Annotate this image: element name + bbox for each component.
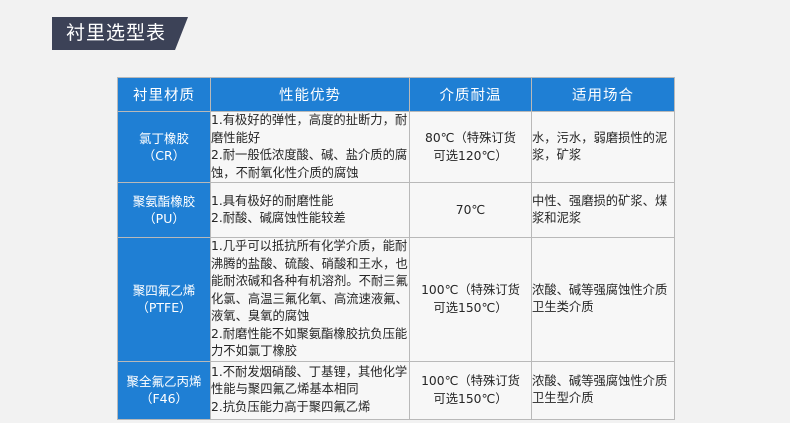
performance-item: 2.耐一般低浓度酸、碱、盐介质的腐蚀，不耐氧化性介质的腐蚀 (211, 147, 409, 182)
performance-item: 2.抗负压能力高于聚四氟乙烯 (211, 399, 409, 417)
cell-material: 聚全氟乙丙烯 （F46） (118, 361, 211, 419)
cell-temperature: 100℃（特殊订货 可选150℃） (410, 361, 532, 419)
material-abbr: （PU） (118, 210, 210, 227)
temperature-line: 100℃（特殊订货 (410, 372, 531, 390)
cell-performance: 1.具有极好的耐磨性能 2.耐酸、碱腐蚀性能较差 (211, 183, 410, 238)
material-name: 聚四氟乙烯 (118, 282, 210, 299)
column-header-usage: 适用场合 (532, 78, 675, 112)
temperature-line: 可选150℃） (410, 390, 531, 408)
page-title-container: 衬里选型表 (52, 17, 188, 50)
performance-item: 1.不耐发烟硝酸、丁基锂，其他化学性能与聚四氟乙烯基本相同 (211, 364, 409, 399)
performance-item: 1.具有极好的耐磨性能 (211, 193, 409, 211)
cell-material: 氯丁橡胶 （CR） (118, 112, 211, 183)
usage-item: 水，污水，弱磨损性的泥浆，矿浆 (532, 130, 674, 165)
performance-item: 2.耐磨性能不如聚氨酯橡胶抗负压能力不如氯丁橡胶 (211, 326, 409, 361)
table-header-row: 衬里材质 性能优势 介质耐温 适用场合 (118, 78, 675, 112)
cell-usage: 浓酸、碱等强腐蚀性介质卫生型介质 (532, 361, 675, 419)
table-row: 聚全氟乙丙烯 （F46） 1.不耐发烟硝酸、丁基锂，其他化学性能与聚四氟乙烯基本… (118, 361, 675, 419)
column-header-temperature: 介质耐温 (410, 78, 532, 112)
temperature-line: 可选150℃） (410, 299, 531, 317)
temperature-line: 可选120℃） (410, 147, 531, 165)
temperature-line: 100℃（特殊订货 (410, 281, 531, 299)
lining-selection-table: 衬里材质 性能优势 介质耐温 适用场合 氯丁橡胶 （CR） 1.有极好的弹性，高… (117, 77, 675, 420)
cell-temperature: 80℃（特殊订货 可选120℃） (410, 112, 532, 183)
usage-item: 中性、强磨损的矿浆、煤浆和泥浆 (532, 193, 674, 228)
column-header-performance: 性能优势 (211, 78, 410, 112)
table-row: 氯丁橡胶 （CR） 1.有极好的弹性，高度的扯断力，耐磨性能好 2.耐一般低浓度… (118, 112, 675, 183)
cell-material: 聚氨酯橡胶 （PU） (118, 183, 211, 238)
performance-item: 2.耐酸、碱腐蚀性能较差 (211, 210, 409, 228)
cell-temperature: 100℃（特殊订货 可选150℃） (410, 238, 532, 362)
material-name: 聚氨酯橡胶 (118, 193, 210, 210)
cell-temperature: 70℃ (410, 183, 532, 238)
usage-item: 浓酸、碱等强腐蚀性介质卫生型介质 (532, 373, 674, 408)
material-abbr: （F46） (118, 390, 210, 407)
material-abbr: （PTFE） (118, 299, 210, 316)
temperature-line: 80℃（特殊订货 (410, 129, 531, 147)
cell-material: 聚四氟乙烯 （PTFE） (118, 238, 211, 362)
table-body: 氯丁橡胶 （CR） 1.有极好的弹性，高度的扯断力，耐磨性能好 2.耐一般低浓度… (118, 112, 675, 420)
page-title: 衬里选型表 (52, 17, 188, 50)
temperature-line: 70℃ (410, 201, 531, 219)
cell-usage: 浓酸、碱等强腐蚀性介质卫生类介质 (532, 238, 675, 362)
cell-performance: 1.几乎可以抵抗所有化学介质，能耐沸腾的盐酸、硫酸、硝酸和王水，也能耐浓碱和各种… (211, 238, 410, 362)
table-row: 聚四氟乙烯 （PTFE） 1.几乎可以抵抗所有化学介质，能耐沸腾的盐酸、硫酸、硝… (118, 238, 675, 362)
material-name: 聚全氟乙丙烯 (118, 373, 210, 390)
column-header-material: 衬里材质 (118, 78, 211, 112)
cell-usage: 中性、强磨损的矿浆、煤浆和泥浆 (532, 183, 675, 238)
table-row: 聚氨酯橡胶 （PU） 1.具有极好的耐磨性能 2.耐酸、碱腐蚀性能较差 70℃ … (118, 183, 675, 238)
cell-performance: 1.有极好的弹性，高度的扯断力，耐磨性能好 2.耐一般低浓度酸、碱、盐介质的腐蚀… (211, 112, 410, 183)
usage-item: 浓酸、碱等强腐蚀性介质卫生类介质 (532, 282, 674, 317)
cell-usage: 水，污水，弱磨损性的泥浆，矿浆 (532, 112, 675, 183)
material-abbr: （CR） (118, 147, 210, 164)
cell-performance: 1.不耐发烟硝酸、丁基锂，其他化学性能与聚四氟乙烯基本相同 2.抗负压能力高于聚… (211, 361, 410, 419)
performance-item: 1.几乎可以抵抗所有化学介质，能耐沸腾的盐酸、硫酸、硝酸和王水，也能耐浓碱和各种… (211, 238, 409, 326)
performance-item: 1.有极好的弹性，高度的扯断力，耐磨性能好 (211, 112, 409, 147)
material-name: 氯丁橡胶 (118, 130, 210, 147)
lining-selection-table-container: 衬里材质 性能优势 介质耐温 适用场合 氯丁橡胶 （CR） 1.有极好的弹性，高… (117, 77, 674, 420)
